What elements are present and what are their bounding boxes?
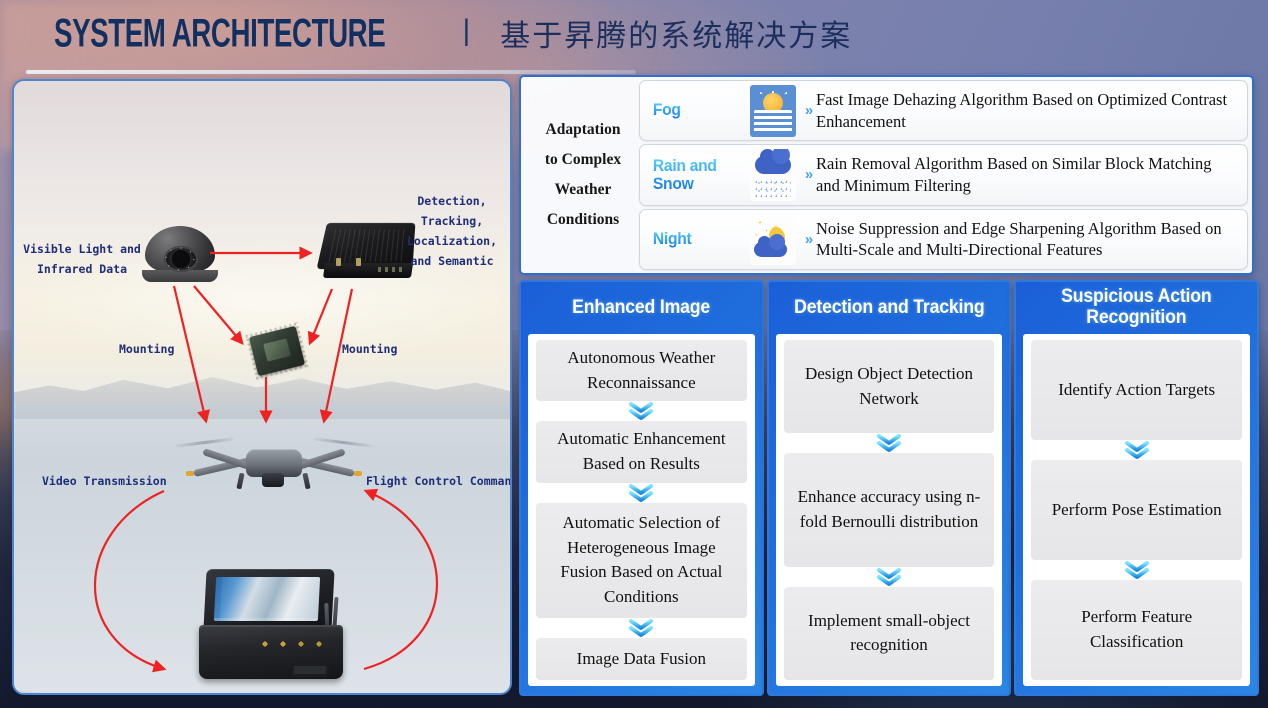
weather-row-rain-snow[interactable]: Rain and Snow » Rain Removal Algorithm B… <box>639 144 1248 205</box>
quadcopter-drone-icon <box>174 429 374 499</box>
chevron-down-icon <box>536 401 747 421</box>
pipeline-step[interactable]: Identify Action Targets <box>1031 340 1242 440</box>
weather-text-rain-snow: Rain Removal Algorithm Based on Similar … <box>816 153 1247 197</box>
pipeline-step[interactable]: Implement small-object recognition <box>784 587 995 680</box>
chevron-down-icon <box>1031 440 1242 460</box>
column-header-detection-tracking: Detection and Tracking <box>769 282 1010 334</box>
column-header-enhanced-image: Enhanced Image <box>521 282 762 334</box>
pipeline-columns: Enhanced Image Autonomous Weather Reconn… <box>519 280 1259 696</box>
pipeline-step[interactable]: Perform Feature Classification <box>1031 580 1242 680</box>
fog-icon <box>744 85 802 137</box>
weather-label-rain-snow: Rain and Snow <box>640 157 736 194</box>
pipeline-step[interactable]: Automatic Enhancement Based on Results <box>536 421 747 482</box>
slide-header: SYSTEM ARCHITECTURE | 基于昇腾的系统解决方案 <box>0 0 1268 76</box>
column-header-suspicious-action: Suspicious Action Recognition <box>1016 282 1257 334</box>
pipeline-step[interactable]: Autonomous Weather Reconnaissance <box>536 340 747 401</box>
pipeline-step[interactable]: Design Object Detection Network <box>784 340 995 433</box>
rain-snow-icon <box>744 149 802 201</box>
title-row: SYSTEM ARCHITECTURE | 基于昇腾的系统解决方案 <box>0 0 1268 66</box>
label-visible-infrared: Visible Light andInfrared Data <box>22 239 142 279</box>
chevron-right-icon-fog: » <box>802 102 816 119</box>
column-header-detection-tracking-text: Detection and Tracking <box>794 298 984 319</box>
pipeline-column-suspicious-action: Suspicious Action Recognition Identify A… <box>1014 280 1259 696</box>
chevron-down-icon <box>1031 560 1242 580</box>
page-title-chinese: 基于昇腾的系统解决方案 <box>500 11 852 55</box>
chevron-down-icon <box>784 433 995 453</box>
title-underline-rule <box>26 70 636 74</box>
chevron-down-icon <box>536 618 747 638</box>
chevron-right-icon-rain-snow: » <box>802 166 816 183</box>
column-header-suspicious-action-text: Suspicious Action Recognition <box>1030 287 1243 328</box>
column-body-detection-tracking: Design Object Detection Network Enhance … <box>776 334 1003 686</box>
system-diagram-panel: Visible Light andInfrared Data Detection… <box>12 79 512 695</box>
chevron-down-icon <box>536 483 747 503</box>
weather-label-night: Night <box>640 230 736 248</box>
title-separator: | <box>462 14 470 48</box>
weather-label-fog: Fog <box>640 101 736 119</box>
pipeline-step[interactable]: Image Data Fusion <box>536 638 747 680</box>
dome-camera-icon <box>142 224 218 282</box>
pipeline-column-enhanced-image: Enhanced Image Autonomous Weather Reconn… <box>519 280 764 696</box>
pipeline-step[interactable]: Enhance accuracy using n-fold Bernoulli … <box>784 453 995 567</box>
column-header-enhanced-image-text: Enhanced Image <box>572 298 710 319</box>
weather-row-fog[interactable]: Fog » Fast Image Dehazing Algorithm Base… <box>639 80 1248 141</box>
label-mounting-left: Mounting <box>119 339 174 359</box>
chevron-right-icon-night: » <box>802 231 816 248</box>
weather-panel-title: Adaptationto ComplexWeatherConditions <box>521 77 639 273</box>
ground-workstation-icon <box>199 569 349 685</box>
label-mounting-right: Mounting <box>342 339 397 359</box>
soc-chip-icon <box>253 331 301 371</box>
label-flight-control-commands: Flight Control Commands <box>366 471 512 491</box>
weather-text-night: Noise Suppression and Edge Sharpening Al… <box>816 218 1247 262</box>
label-video-transmission: Video Transmission <box>42 471 167 491</box>
weather-text-fog: Fast Image Dehazing Algorithm Based on O… <box>816 89 1247 133</box>
pipeline-step[interactable]: Perform Pose Estimation <box>1031 460 1242 560</box>
column-body-enhanced-image: Autonomous Weather Reconnaissance Automa… <box>528 334 755 686</box>
weather-adaptation-panel: Adaptationto ComplexWeatherConditions Fo… <box>519 75 1254 275</box>
pipeline-step[interactable]: Automatic Selection of Heterogeneous Ima… <box>536 503 747 618</box>
label-detection-semantic: Detection,Tracking,Localization,and Sema… <box>396 191 508 272</box>
page-title-english: SYSTEM ARCHITECTURE <box>54 10 385 56</box>
weather-rows: Fog » Fast Image Dehazing Algorithm Base… <box>639 77 1252 273</box>
pipeline-column-detection-tracking: Detection and Tracking Design Object Det… <box>767 280 1012 696</box>
slide-root: SYSTEM ARCHITECTURE | 基于昇腾的系统解决方案 <box>0 0 1268 708</box>
chevron-down-icon <box>784 567 995 587</box>
column-body-suspicious-action: Identify Action Targets Perform Pose Est… <box>1023 334 1250 686</box>
weather-row-night[interactable]: Night » Noise Suppression and Edge Sharp… <box>639 209 1248 270</box>
night-icon <box>744 213 802 265</box>
